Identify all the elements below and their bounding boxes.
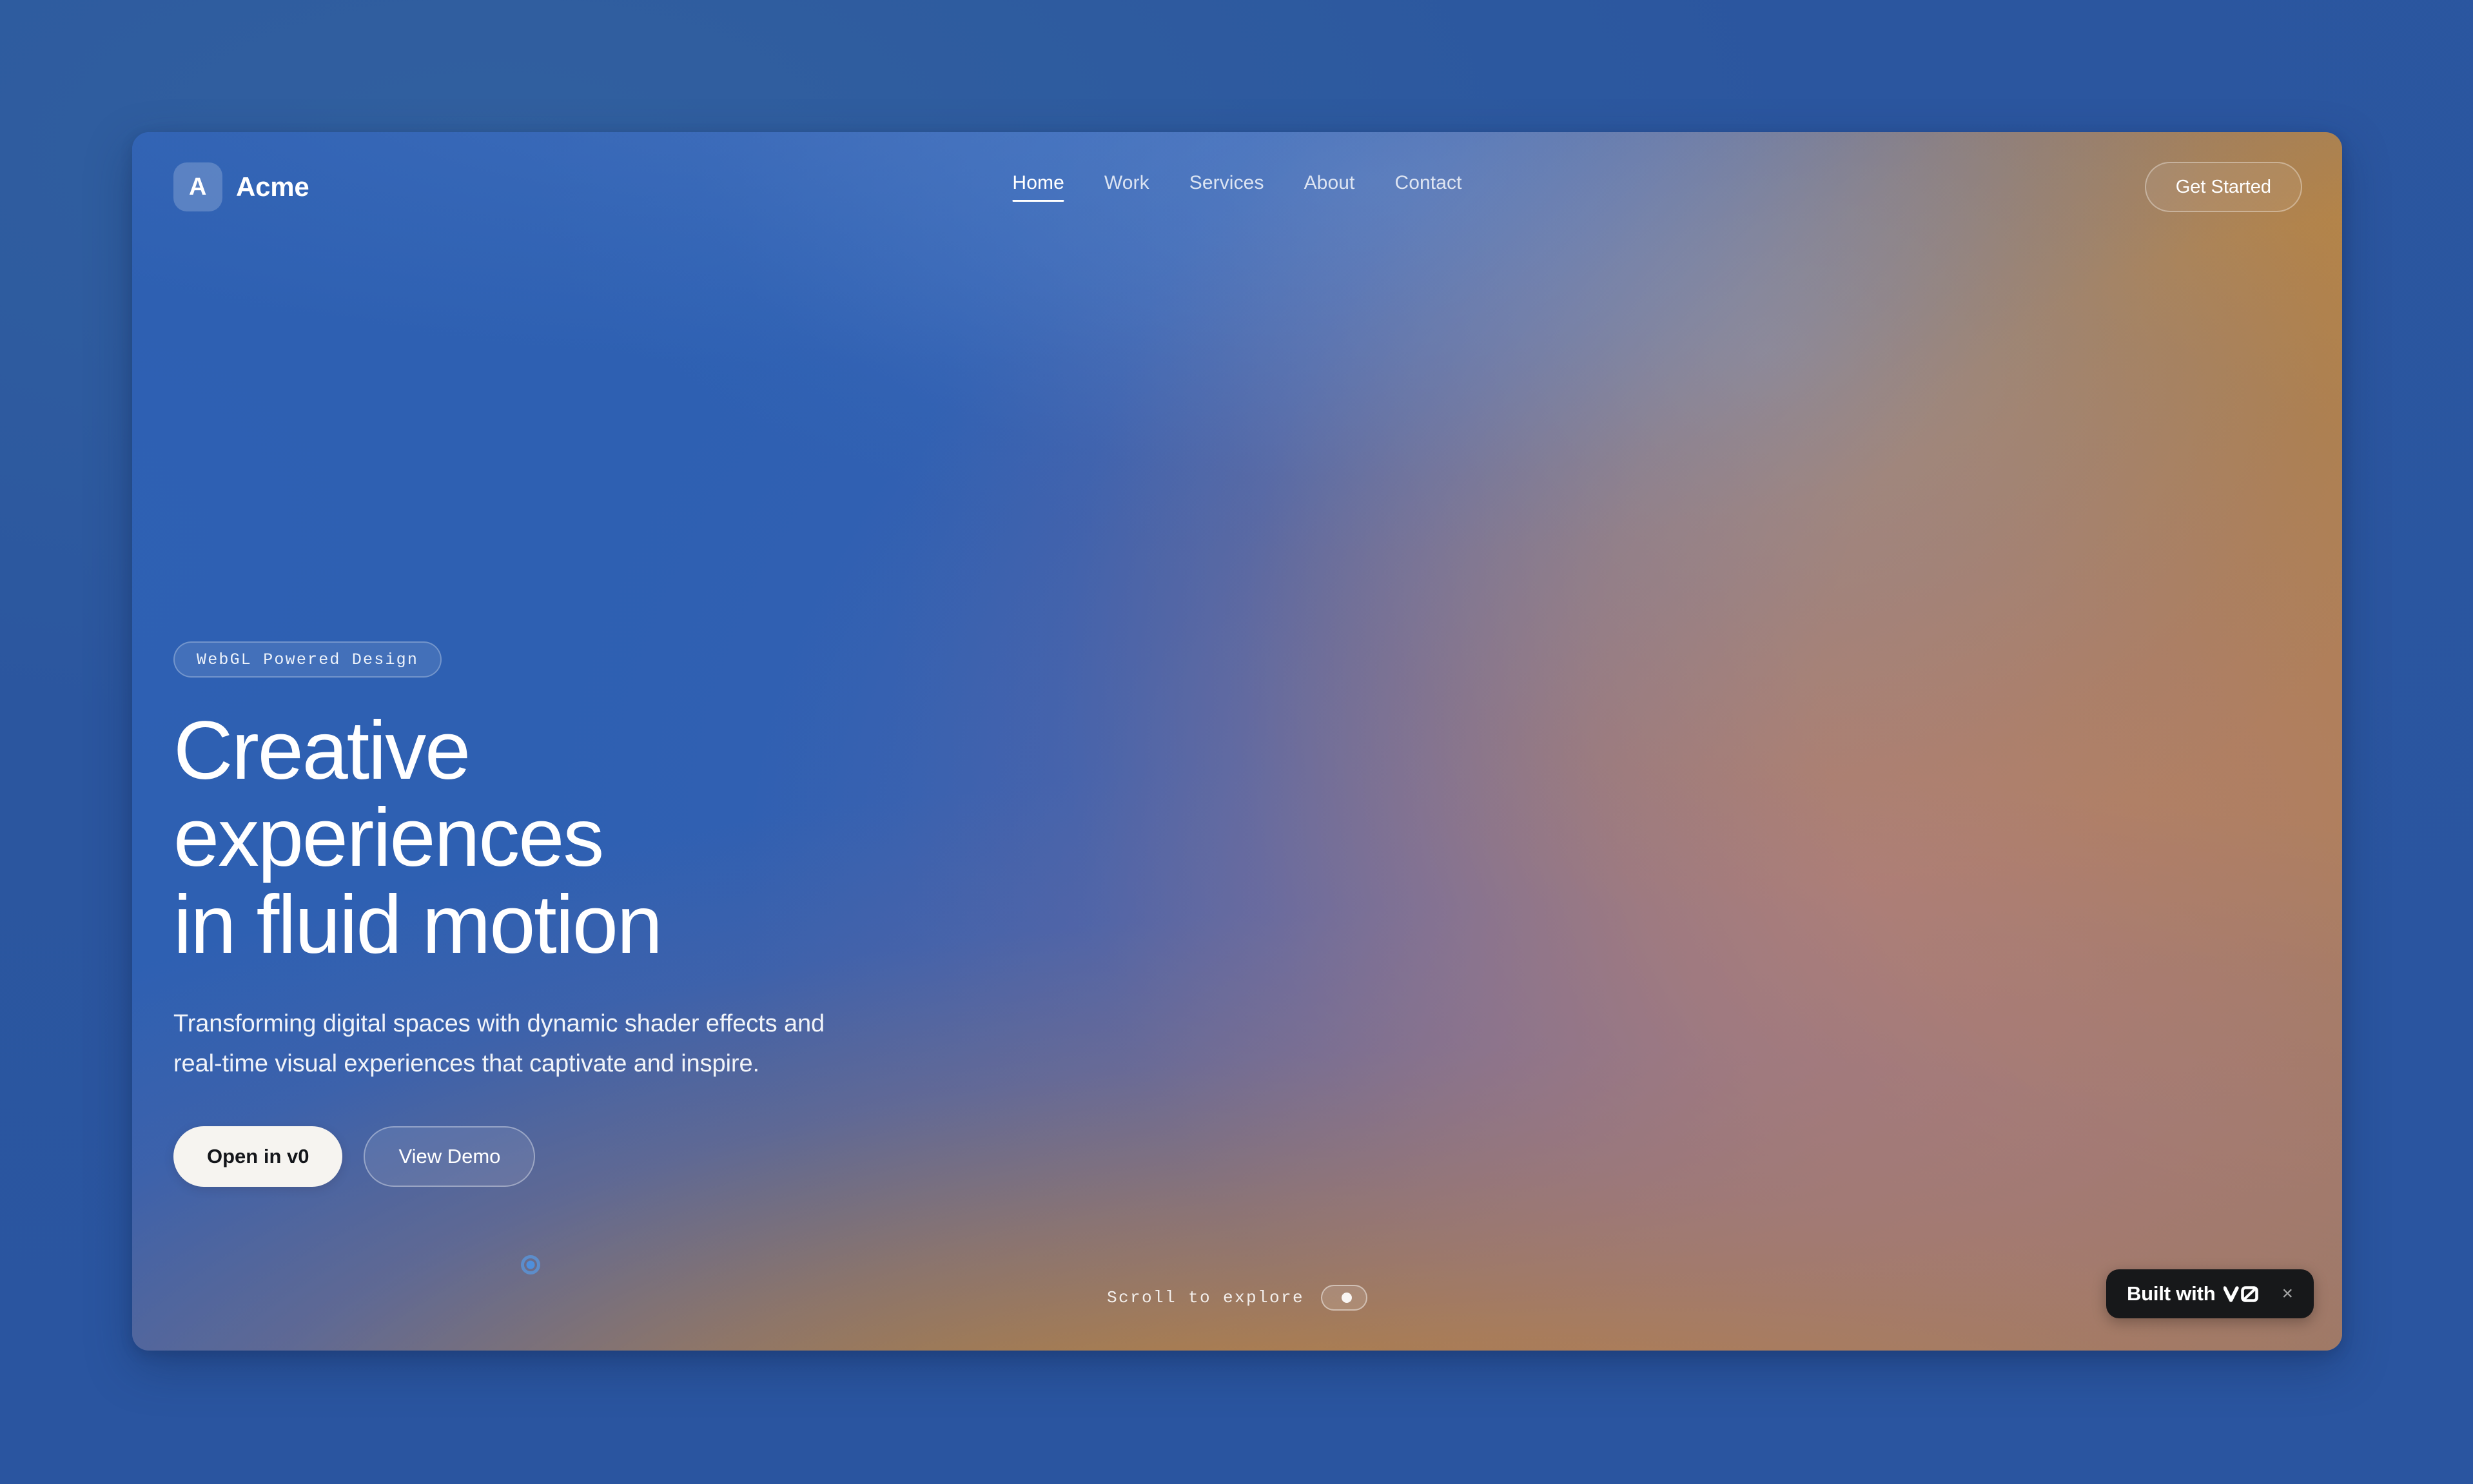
headline-line-2: experiences (173, 794, 825, 881)
built-with-label: Built with (2127, 1282, 2260, 1305)
close-icon[interactable]: × (2278, 1280, 2297, 1307)
hero-card: A Acme Home Work Services About Contact … (132, 132, 2342, 1351)
main-nav: Home Work Services About Contact (1012, 172, 1461, 202)
subtitle-line-1: Transforming digital spaces with dynamic… (173, 1004, 825, 1044)
nav-link-services[interactable]: Services (1189, 172, 1264, 202)
subtitle-line-2: real-time visual experiences that captiv… (173, 1044, 825, 1084)
nav-link-work[interactable]: Work (1104, 172, 1149, 202)
hero-subtitle: Transforming digital spaces with dynamic… (173, 1004, 825, 1084)
headline-line-3: in fluid motion (173, 881, 825, 968)
hero-content: WebGL Powered Design Creative experience… (173, 641, 825, 1187)
hero-headline: Creative experiences in fluid motion (173, 707, 825, 968)
headline-line-1: Creative (173, 707, 825, 794)
scroll-mouse-icon (1321, 1285, 1367, 1311)
scroll-indicator-label: Scroll to explore (1107, 1288, 1304, 1307)
brand-name: Acme (236, 171, 309, 202)
scroll-mouse-dot-icon (1342, 1293, 1352, 1303)
get-started-button[interactable]: Get Started (2145, 162, 2302, 212)
built-with-text-value: Built with (2127, 1282, 2215, 1305)
brand-mark-icon: A (173, 162, 222, 211)
scroll-indicator[interactable]: Scroll to explore (1107, 1285, 1367, 1311)
site-header: A Acme Home Work Services About Contact … (132, 132, 2342, 242)
hero-actions: Open in v0 View Demo (173, 1126, 825, 1187)
view-demo-button[interactable]: View Demo (364, 1126, 535, 1187)
nav-link-about[interactable]: About (1304, 172, 1355, 202)
brand-logo[interactable]: A Acme (173, 162, 309, 211)
hero-badge: WebGL Powered Design (173, 641, 442, 678)
built-with-badge[interactable]: Built with × (2106, 1269, 2314, 1318)
nav-link-home[interactable]: Home (1012, 172, 1064, 202)
open-in-v0-button[interactable]: Open in v0 (173, 1126, 342, 1187)
v0-logo-icon (2224, 1284, 2260, 1303)
nav-link-contact[interactable]: Contact (1394, 172, 1461, 202)
